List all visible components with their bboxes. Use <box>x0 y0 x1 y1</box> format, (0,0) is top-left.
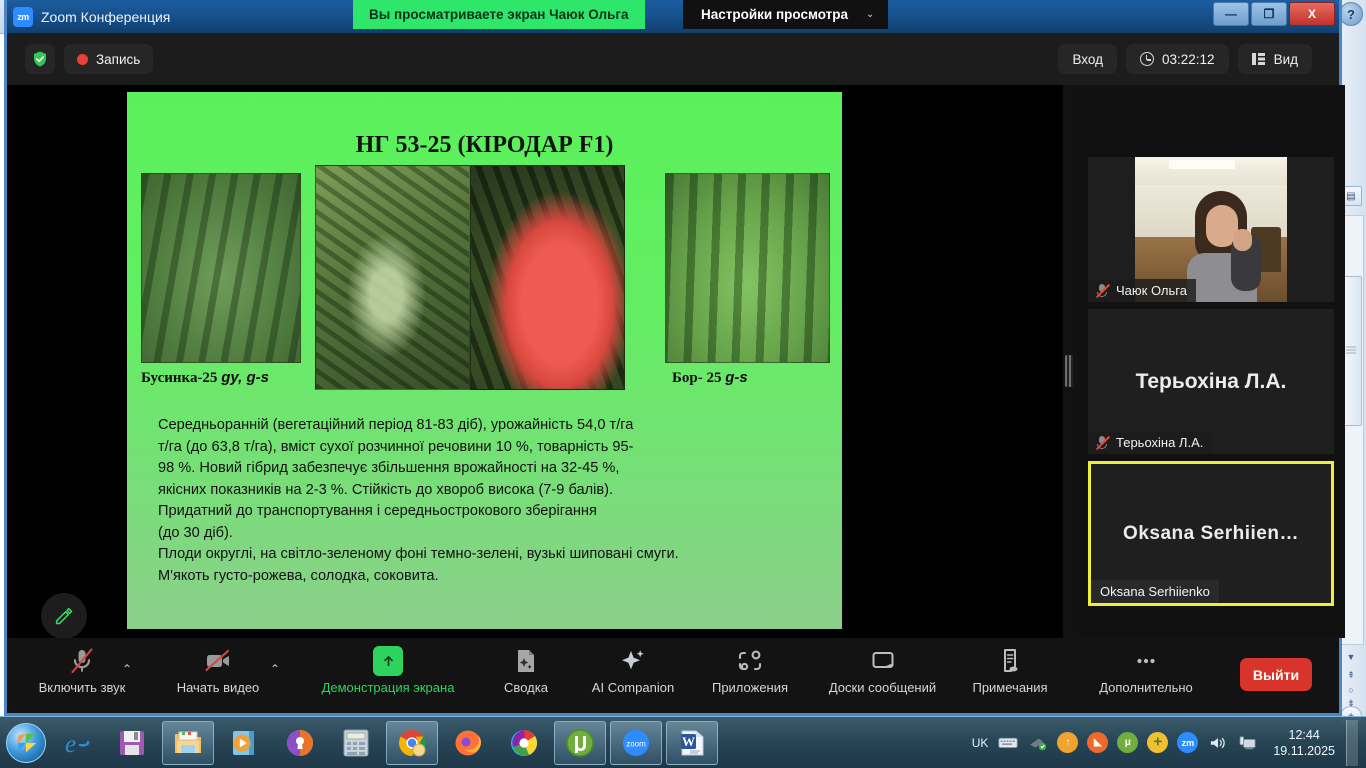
clock-icon <box>1140 52 1154 66</box>
scroll-down-arrow[interactable]: ▼ <box>1340 648 1362 666</box>
view-options-button[interactable]: Настройки просмотра ⌄ <box>683 0 888 29</box>
desktop: ? ▤ ▲ ▼ ⇞ ○ ⇟ + zm Zoom Конференция Вы п… <box>0 0 1366 768</box>
toolbar-label: Приложения <box>712 680 788 695</box>
windows-taskbar: e <box>0 716 1366 768</box>
toolbar-label: Демонстрация экрана <box>322 680 455 695</box>
toolbar-button-mute[interactable]: Включить звук <box>34 644 130 708</box>
timer-value: 03:22:12 <box>1162 52 1215 67</box>
taskbar-item-internet-explorer[interactable]: e <box>50 721 102 765</box>
participant-name: Чаюк Ольга <box>1116 283 1187 298</box>
microphone-muted-icon <box>66 644 98 678</box>
network-icon[interactable] <box>1237 732 1258 753</box>
toolbar-button-share-screen[interactable]: Демонстрация экрана <box>312 644 464 708</box>
login-label: Вход <box>1072 52 1103 67</box>
view-options-label: Настройки просмотра <box>701 7 848 22</box>
slide-body-line: Придатний до транспортування і середньос… <box>158 501 812 523</box>
photo-caption-left-text: Бусинка-25 <box>141 370 221 386</box>
photo-caption-right-gene: g-s <box>725 369 748 386</box>
slide-photo-row: Бусинка-25 gy, g-s Бор- 25 g-s <box>127 173 842 403</box>
add-green-icon[interactable]: ✛ <box>1147 732 1168 753</box>
slide-body-line: Плоди округлі, на світло-зеленому фоні т… <box>158 544 812 566</box>
meeting-top-toolbar: Запись Вход 03:22:12 Вид <box>7 33 1339 85</box>
pencil-icon <box>53 605 75 627</box>
system-tray: UK ↑ ◣ μ ✛ zm <box>972 720 1366 766</box>
utorrent-tray-icon[interactable]: μ <box>1117 732 1138 753</box>
toolbar-button-video[interactable]: Начать видео <box>170 644 266 708</box>
toolbar-label: Включить звук <box>39 680 126 695</box>
taskbar-item-microsoft-word[interactable]: W <box>666 721 718 765</box>
toolbar-button-ai-companion[interactable]: AI Companion <box>585 644 681 708</box>
toolbar-button-apps[interactable]: Приложения <box>702 644 798 708</box>
shield-check-icon[interactable] <box>25 44 55 74</box>
leave-meeting-button[interactable]: Выйти <box>1240 658 1312 691</box>
participant-tile-active-speaker[interactable]: Oksana Serhiien… Oksana Serhiienko <box>1088 461 1334 606</box>
watermelon-photo-3 <box>470 165 625 390</box>
volume-icon[interactable] <box>1207 732 1228 753</box>
taskbar-item-media-player[interactable] <box>218 721 270 765</box>
more-dots-icon <box>1130 644 1162 678</box>
microphone-muted-icon <box>1095 435 1109 450</box>
taskbar-item-zoom[interactable]: zoom <box>610 721 662 765</box>
slide-body-text: Середньораннiй (вегетаційний період 81-8… <box>158 415 812 587</box>
taskbar-item-calculator[interactable] <box>330 721 382 765</box>
window-titlebar[interactable]: zm Zoom Конференция Вы просматриваете эк… <box>7 0 1339 33</box>
taskbar-clock[interactable]: 12:44 19.11.2025 <box>1267 727 1337 759</box>
svg-text:W: W <box>682 734 695 749</box>
zoom-logo-icon: zm <box>13 7 33 27</box>
recording-label: Запись <box>96 52 140 67</box>
toolbar-button-more[interactable]: Дополнительно <box>1082 644 1210 708</box>
clock-date: 19.11.2025 <box>1273 743 1335 759</box>
taskbar-item-avast-browser[interactable] <box>274 721 326 765</box>
participants-panel: Чаюк Ольга Терьохіна Л.А. Терьохіна Л.А.… <box>1077 85 1345 638</box>
apps-icon <box>734 644 766 678</box>
view-layout-button[interactable]: Вид <box>1238 44 1312 74</box>
login-button[interactable]: Вход <box>1058 44 1117 74</box>
taskbar-item-utorrent[interactable] <box>554 721 606 765</box>
photo-caption-right-text: Бор- 25 <box>672 370 725 386</box>
annotate-pen-button[interactable] <box>41 593 87 639</box>
participant-name: Терьохіна Л.А. <box>1116 435 1203 450</box>
show-desktop-button[interactable] <box>1346 720 1358 766</box>
window-controls: — ❐ X <box>1213 2 1339 26</box>
toolbar-label: AI Companion <box>592 680 674 695</box>
zoom-tray-icon[interactable]: zm <box>1177 732 1198 753</box>
camera-muted-icon <box>202 644 234 678</box>
layout-grid-icon <box>1252 53 1266 65</box>
close-button[interactable]: X <box>1289 2 1335 26</box>
video-options-caret-icon[interactable]: ⌃ <box>270 662 280 676</box>
maximize-button[interactable]: ❐ <box>1251 2 1287 26</box>
zoom-meeting-window: zm Zoom Конференция Вы просматриваете эк… <box>4 0 1342 716</box>
summary-doc-icon <box>510 644 542 678</box>
shared-screen-stage[interactable]: НГ 53-25 (КІРОДАР F1) Бусинка-25 gy, g-s… <box>7 85 1063 638</box>
svg-text:zoom: zoom <box>626 739 646 748</box>
meeting-bottom-toolbar: Включить звук ⌃ Начать видео ⌃ <box>7 638 1339 713</box>
view-label: Вид <box>1274 52 1298 67</box>
participant-tile[interactable]: Чаюк Ольга <box>1088 157 1334 302</box>
top-toolbar-right-group: Вход 03:22:12 Вид <box>1058 44 1339 74</box>
participant-name-badge: Oksana Serhiienko <box>1091 580 1219 603</box>
scrollbar-grip-icon <box>1346 347 1356 356</box>
watermelon-photo-2 <box>315 165 470 390</box>
toolbar-label: Начать видео <box>177 680 260 695</box>
clock-time: 12:44 <box>1273 727 1335 743</box>
toolbar-label: Сводка <box>504 680 548 695</box>
participant-name-badge: Терьохіна Л.А. <box>1088 431 1212 454</box>
help-icon[interactable]: ? <box>1339 2 1363 26</box>
update-arrow-icon[interactable]: ↑ <box>1057 732 1078 753</box>
recording-indicator[interactable]: Запись <box>64 44 153 74</box>
toolbar-button-notes[interactable]: Примечания <box>962 644 1058 708</box>
whiteboard-icon <box>867 644 899 678</box>
record-dot-icon <box>77 54 88 65</box>
toolbar-label: Примечания <box>972 680 1047 695</box>
microphone-muted-icon <box>1095 283 1109 298</box>
toolbar-label: Дополнительно <box>1099 680 1193 695</box>
participant-name-badge: Чаюк Ольга <box>1088 279 1196 302</box>
taskbar-item-google-chrome[interactable] <box>386 721 438 765</box>
slide-body-line: М'якоть густо-рожева, солодка, соковита. <box>158 566 812 588</box>
slide-body-line: якісних показників на 2-3 %. Стійкість д… <box>158 480 812 502</box>
language-indicator[interactable]: UK <box>972 736 989 750</box>
panel-resize-handle[interactable] <box>1065 355 1073 387</box>
photo-caption-right: Бор- 25 g-s <box>672 369 748 387</box>
participant-name: Oksana Serhiienko <box>1100 584 1210 599</box>
screen-share-banner: Вы просматриваете экран Чаюк Ольга <box>353 0 645 29</box>
taskbar-item-chromium-color[interactable] <box>498 721 550 765</box>
taskbar-item-save-floppy[interactable] <box>106 721 158 765</box>
svg-text:e: e <box>65 731 76 758</box>
toolbar-button-whiteboards[interactable]: Доски сообщений <box>820 644 945 708</box>
windows-start-button[interactable] <box>6 723 46 763</box>
toolbar-label: Доски сообщений <box>829 680 936 695</box>
windows-logo-icon <box>18 732 36 752</box>
mic-options-caret-icon[interactable]: ⌃ <box>122 662 132 676</box>
ai-sparkle-icon <box>617 644 649 678</box>
watermelon-photo-4 <box>665 173 830 363</box>
window-title: Zoom Конференция <box>41 9 170 25</box>
taskbar-item-firefox[interactable] <box>442 721 494 765</box>
watermelon-photo-1 <box>141 173 301 363</box>
notes-icon <box>994 644 1026 678</box>
participant-tile[interactable]: Терьохіна Л.А. Терьохіна Л.А. <box>1088 309 1334 454</box>
minimize-button[interactable]: — <box>1213 2 1249 26</box>
slide-body-line: Середньораннiй (вегетаційний період 81-8… <box>158 415 812 437</box>
slide-body-line: 98 %. Новий гібрид забезпечує збільшення… <box>158 458 812 480</box>
photo-caption-left: Бусинка-25 gy, g-s <box>141 369 269 387</box>
slide-title: НГ 53-25 (КІРОДАР F1) <box>127 132 842 159</box>
presentation-slide: НГ 53-25 (КІРОДАР F1) Бусинка-25 gy, g-s… <box>127 92 842 629</box>
taskbar-item-file-explorer[interactable] <box>162 721 214 765</box>
avast-icon[interactable]: ◣ <box>1087 732 1108 753</box>
slide-body-line: (до 30 діб). <box>158 523 812 545</box>
slide-body-line: т/га (до 63,8 т/га), вміст сухої розчинн… <box>158 437 812 459</box>
meeting-timer[interactable]: 03:22:12 <box>1126 44 1229 74</box>
toolbar-button-summary[interactable]: Сводка <box>478 644 574 708</box>
share-screen-icon <box>373 644 403 678</box>
chevron-down-icon: ⌄ <box>866 9 874 20</box>
keyboard-icon[interactable] <box>997 732 1018 753</box>
photo-caption-left-gene: gy, g-s <box>221 369 269 386</box>
mouse-icon[interactable] <box>1027 732 1048 753</box>
